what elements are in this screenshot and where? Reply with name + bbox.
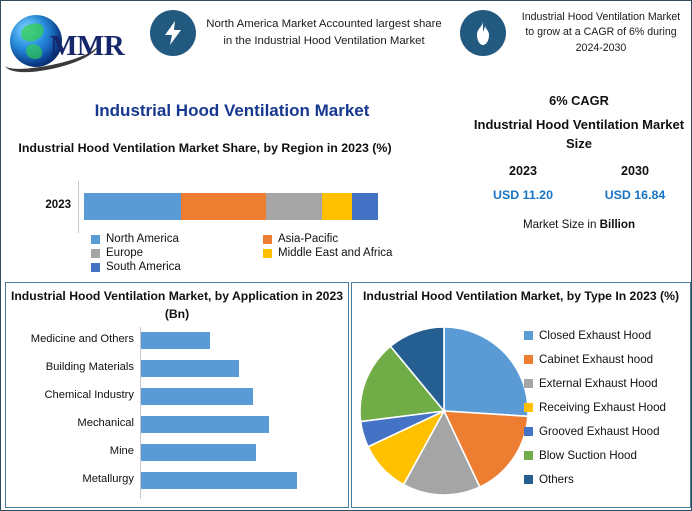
stack-segment-3 (322, 193, 351, 220)
stack-segment-1 (181, 193, 266, 220)
page-title: Industrial Hood Ventilation Market (1, 101, 463, 121)
chart-title: Industrial Hood Ventilation Market, by T… (352, 287, 690, 305)
market-size-years: 2023 2030 (467, 164, 691, 178)
header-badge-text: Industrial Hood Ventilation Market to gr… (516, 10, 686, 56)
pie-svg (360, 325, 528, 497)
bar-category-label: Medicine and Others (6, 333, 134, 345)
value-start: USD 11.20 (467, 188, 579, 202)
infographic-page: MMR North America Market Accounted large… (0, 0, 692, 511)
stack-segment-2 (266, 193, 322, 220)
stack-segment-4 (352, 193, 378, 220)
legend-swatch (91, 263, 100, 272)
brand-name: MMR (50, 30, 124, 63)
legend-swatch (263, 249, 272, 258)
chart-title: Industrial Hood Ventilation Market, by A… (6, 287, 348, 324)
legend-label: Cabinet Exhaust hood (539, 353, 653, 366)
flame-icon (460, 10, 506, 56)
pie-plot (360, 325, 528, 497)
bar-category-label: Building Materials (6, 361, 134, 373)
year-end-label: 2030 (579, 164, 691, 178)
header-badge-text: North America Market Accounted largest s… (206, 16, 442, 49)
region-share-chart: Industrial Hood Ventilation Market Share… (7, 139, 463, 279)
legend-swatch (91, 249, 100, 258)
lightning-bolt-icon (150, 10, 196, 56)
bar-row: Mechanical (6, 411, 350, 439)
legend-swatch (91, 235, 100, 244)
cagr-value: 6% CAGR (467, 93, 691, 108)
legend-swatch (524, 451, 533, 460)
legend-label: Others (539, 473, 574, 486)
legend-label: Grooved Exhaust Hood (539, 425, 660, 438)
legend-swatch (524, 355, 533, 364)
legend-item: North America (91, 233, 263, 245)
bar-row: Medicine and Others (6, 327, 350, 355)
header-bar: MMR North America Market Accounted large… (2, 2, 692, 80)
market-size-unit: Market Size in Billion (467, 218, 691, 231)
bar-category-label: Metallurgy (6, 473, 134, 485)
legend-label: Middle East and Africa (278, 247, 392, 259)
bar (141, 360, 239, 377)
legend-swatch (524, 427, 533, 436)
stack-segment-0 (84, 193, 181, 220)
legend-item: Asia-Pacific (263, 233, 453, 245)
chart-title: Industrial Hood Ventilation Market Share… (15, 139, 395, 158)
legend-item: Blow Suction Hood (524, 443, 690, 467)
bar (141, 388, 253, 405)
unit-value: Billion (600, 218, 635, 231)
legend-item: Cabinet Exhaust hood (524, 347, 690, 371)
bar-category-label: Mine (6, 445, 134, 457)
bar (141, 416, 269, 433)
legend-swatch (524, 331, 533, 340)
region-legend: North AmericaAsia-PacificEuropeMiddle Ea… (91, 233, 461, 273)
legend-label: North America (106, 233, 179, 245)
legend-swatch (524, 475, 533, 484)
bar (141, 444, 256, 461)
stacked-bar-plot: 2023 (7, 189, 463, 225)
type-chart-panel: Industrial Hood Ventilation Market, by T… (351, 282, 691, 508)
market-size-values: USD 11.20 USD 16.84 (467, 188, 691, 202)
legend-swatch (524, 379, 533, 388)
bar-row: Metallurgy (6, 467, 350, 495)
legend-item: Closed Exhaust Hood (524, 323, 690, 347)
bar-row: Chemical Industry (6, 383, 350, 411)
legend-label: Receiving Exhaust Hood (539, 401, 666, 414)
legend-swatch (524, 403, 533, 412)
legend-label: South America (106, 261, 181, 273)
header-badge-north-america: North America Market Accounted largest s… (150, 10, 450, 56)
bar-row: Mine (6, 439, 350, 467)
year-start-label: 2023 (467, 164, 579, 178)
legend-item: South America (91, 261, 263, 273)
legend-label: Blow Suction Hood (539, 449, 637, 462)
bar-category-label: Mechanical (6, 417, 134, 429)
bar (141, 332, 210, 349)
bar-category-label: Chemical Industry (6, 389, 134, 401)
brand-logo: MMR (2, 5, 142, 77)
legend-item: External Exhaust Hood (524, 371, 690, 395)
stacked-bar (84, 193, 378, 220)
unit-prefix: Market Size in (523, 218, 600, 231)
legend-swatch (263, 235, 272, 244)
legend-label: Europe (106, 247, 143, 259)
header-badge-cagr: Industrial Hood Ventilation Market to gr… (460, 10, 692, 56)
legend-item: Receiving Exhaust Hood (524, 395, 690, 419)
type-legend: Closed Exhaust HoodCabinet Exhaust hoodE… (524, 323, 690, 491)
legend-label: Closed Exhaust Hood (539, 329, 651, 342)
market-size-title: Industrial Hood Ventilation Market Size (467, 116, 691, 154)
legend-item: Europe (91, 247, 263, 259)
market-size-panel: 6% CAGR Industrial Hood Ventilation Mark… (467, 93, 691, 281)
legend-label: Asia-Pacific (278, 233, 338, 245)
value-end: USD 16.84 (579, 188, 691, 202)
application-chart-panel: Industrial Hood Ventilation Market, by A… (5, 282, 349, 508)
legend-item: Grooved Exhaust Hood (524, 419, 690, 443)
pie-slice-0 (444, 327, 528, 416)
bar-row: Building Materials (6, 355, 350, 383)
legend-item: Middle East and Africa (263, 247, 453, 259)
axis-line (78, 181, 79, 233)
bar (141, 472, 297, 489)
legend-label: External Exhaust Hood (539, 377, 658, 390)
category-label: 2023 (19, 199, 71, 211)
application-bar-plot: Medicine and OthersBuilding MaterialsChe… (6, 327, 350, 503)
legend-item: Others (524, 467, 690, 491)
